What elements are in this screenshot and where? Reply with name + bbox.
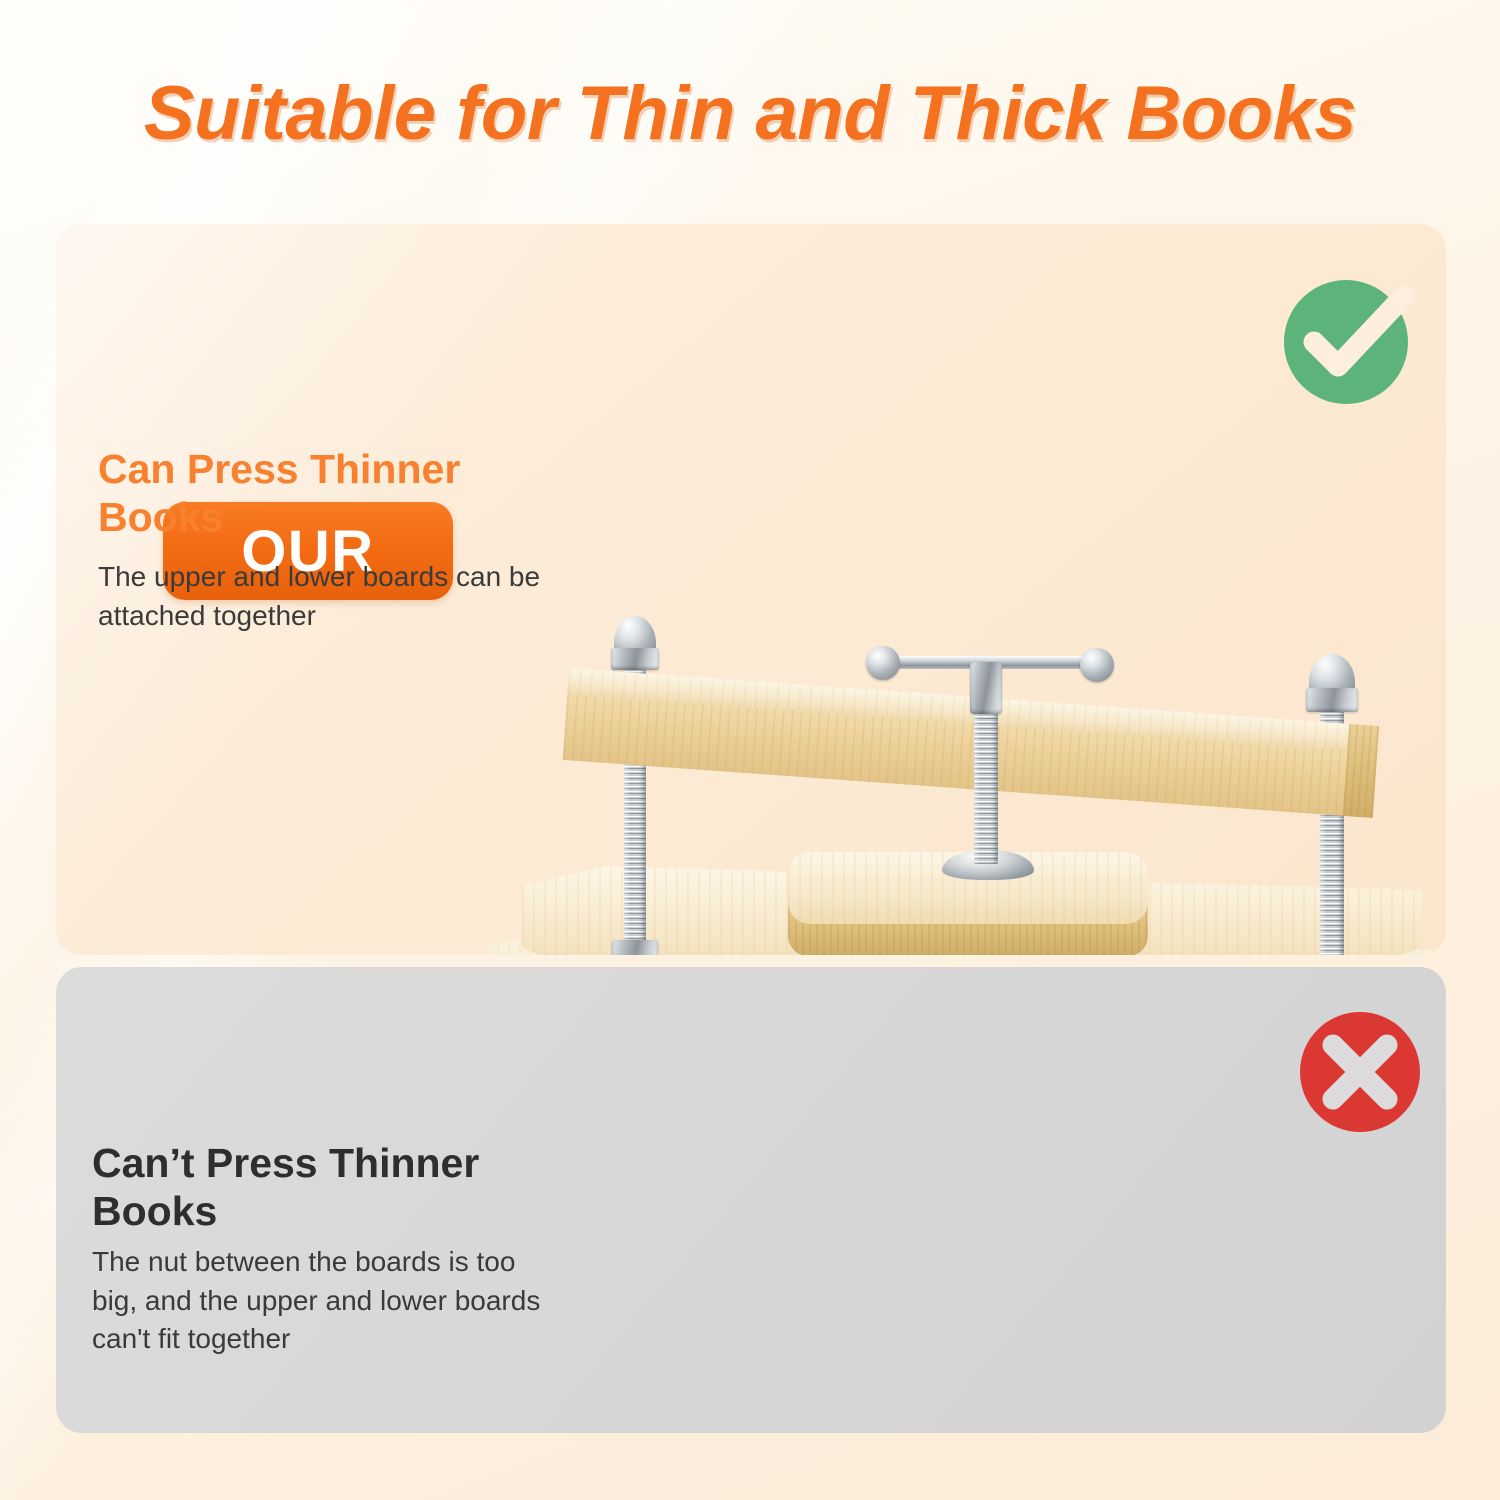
product-photo-bamboo-press [456,604,1446,955]
heading-other: Can’t Press Thinner Books [92,1140,562,1236]
right-cap-hex [1306,688,1358,712]
infographic-page: Suitable for Thin and Thick Books [0,0,1500,1500]
heading-our: Can Press Thinner Books [98,446,568,542]
description-other: The nut between the boards is too big, a… [92,1243,562,1359]
center-screw-rod [974,706,998,864]
check-circle-icon [1280,272,1416,408]
page-title: Suitable for Thin and Thick Books [0,70,1500,157]
t-handle-ball-right [1080,648,1114,682]
center-screw-collar [970,662,1002,714]
t-handle-ball-left [866,646,900,680]
thin-board-gap-callout [456,904,1446,955]
crossbar-beam [562,662,1367,823]
description-our: The upper and lower boards can be attach… [98,558,568,635]
cross-circle-icon [1297,1009,1423,1135]
